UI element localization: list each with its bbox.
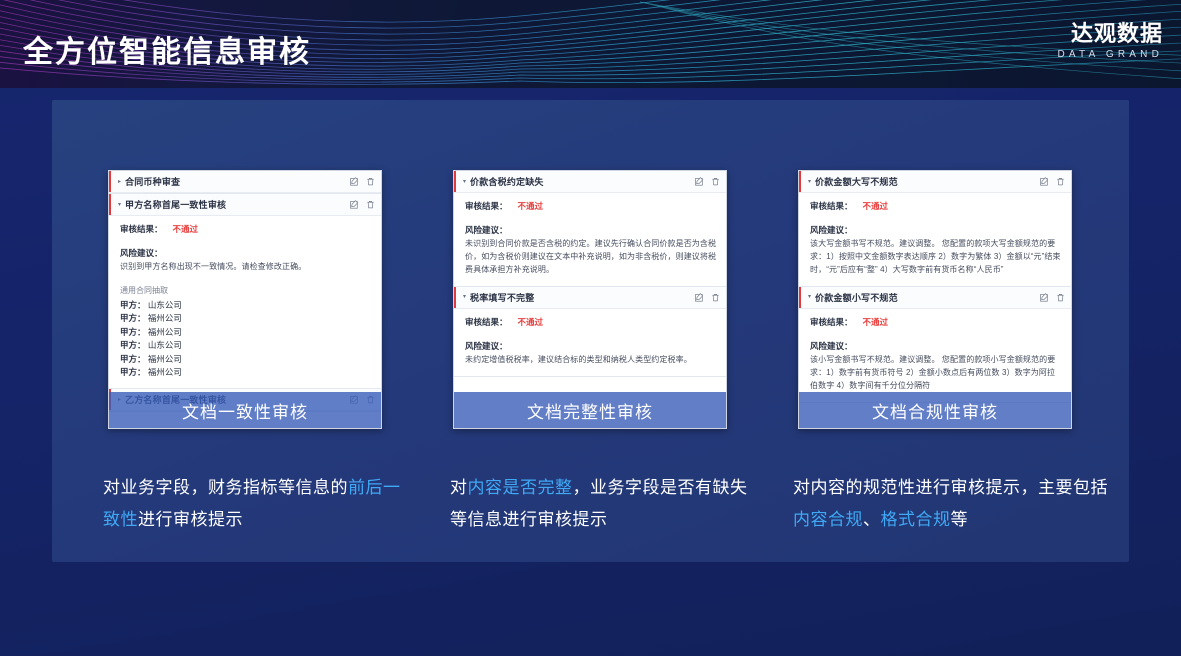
- desc-highlight: 内容合规: [793, 510, 863, 529]
- audit-section-header[interactable]: ▾ 甲方名称首尾一致性审核: [109, 194, 381, 216]
- desc-text: 对业务字段，财务指标等信息的: [103, 478, 348, 497]
- audit-section-title: 甲方名称首尾一致性审核: [125, 198, 226, 211]
- audit-section-header[interactable]: ▾ 价款金额小写不规范: [799, 287, 1071, 309]
- desc-highlight: 格式合规: [881, 510, 951, 529]
- field-key: 甲方：: [120, 327, 146, 337]
- desc-separator: 、: [863, 510, 881, 529]
- chevron-down-icon[interactable]: ▾: [463, 294, 466, 300]
- status-badge: 不通过: [863, 201, 889, 211]
- edit-icon[interactable]: [350, 177, 359, 186]
- risk-advice-text: 识别到甲方名称出现不一致情况。请检查修改正确。: [120, 261, 372, 274]
- row-actions: [1040, 177, 1065, 186]
- risk-advice-text: 该大写金额书写不规范。建议调整。 您配置的款项大写金额规范的要求：1）按照中文金…: [810, 238, 1062, 277]
- audit-section-header[interactable]: ▾ 价款含税约定缺失: [454, 171, 726, 193]
- extraction-row: 甲方： 福州公司: [120, 353, 372, 366]
- audit-section[interactable]: ▾ 甲方名称首尾一致性审核 审核结果：不通过 风险建议： 识别到甲方名称出现不一…: [109, 194, 381, 389]
- chevron-down-icon[interactable]: ▾: [808, 294, 811, 300]
- audit-section-header[interactable]: ▾ 价款金额大写不规范: [799, 171, 1071, 193]
- desc-text: 对内容的规范性进行审核提示，主要包括: [793, 478, 1108, 497]
- desc-text: 对: [450, 478, 468, 497]
- audit-section-body: 审核结果：不通过 风险建议： 该小写金额书写不规范。建议调整。 您配置的款项小写…: [799, 309, 1071, 402]
- risk-advice-text: 未识别到合同价款是否含税的约定。建议先行确认合同价款是否为含税价，如为含税价则建…: [465, 238, 717, 277]
- audit-section-body: 审核结果：不通过 风险建议： 未约定增值税税率，建议结合标的类型和纳税人类型约定…: [454, 309, 726, 376]
- row-actions: [1040, 293, 1065, 302]
- extraction-row: 甲方： 福州公司: [120, 326, 372, 339]
- card-caption: 文档完整性审核: [454, 392, 726, 428]
- status-badge: 不通过: [518, 201, 544, 211]
- audit-result-row: 审核结果：不通过: [465, 200, 717, 212]
- field-key: 甲方：: [120, 300, 146, 310]
- extraction-title: 通用合同抽取: [120, 285, 372, 296]
- audit-section[interactable]: ▾ 税率填写不完整 审核结果：不通过 风险建议： 未约定增值税税率，建议结合标的…: [454, 287, 726, 377]
- edit-icon[interactable]: [1040, 177, 1049, 186]
- risk-advice-label: 风险建议：: [465, 224, 717, 236]
- audit-section[interactable]: ▾ 价款金额小写不规范 审核结果：不通过 风险建议： 该小写金额书写不规范。建议…: [799, 287, 1071, 403]
- trash-icon[interactable]: [366, 177, 375, 186]
- screenshot-card-consistency: ▸ 合同币种审查 ▾ 甲方名称首尾一致性审核: [108, 170, 382, 429]
- card-caption-text: 文档完整性审核: [527, 398, 653, 423]
- screenshot-card-compliance: ▾ 价款金额大写不规范 审核结果：不通过 风险建议： 该大写金额书写不规范。建议…: [798, 170, 1072, 429]
- field-key: 甲方：: [120, 367, 146, 377]
- trash-icon[interactable]: [1056, 177, 1065, 186]
- slide-root: 全方位智能信息审核 达观数据 DATA GRAND ▸ 合同币种审查: [0, 0, 1181, 656]
- status-badge: 不通过: [518, 317, 544, 327]
- page-title: 全方位智能信息审核: [23, 27, 311, 71]
- audit-section-body: 审核结果：不通过 风险建议： 该大写金额书写不规范。建议调整。 您配置的款项大写…: [799, 193, 1071, 286]
- field-value: 福州公司: [148, 354, 182, 364]
- chevron-down-icon[interactable]: ▾: [808, 179, 811, 185]
- edit-icon[interactable]: [695, 293, 704, 302]
- audit-result-label: 审核结果：: [465, 317, 508, 327]
- audit-result-row: 审核结果：不通过: [810, 200, 1062, 212]
- risk-advice-label: 风险建议：: [465, 340, 717, 352]
- edit-icon[interactable]: [350, 200, 359, 209]
- field-value: 山东公司: [148, 340, 182, 350]
- audit-section-header[interactable]: ▸ 合同币种审查: [109, 171, 381, 193]
- extraction-row: 甲方： 山东公司: [120, 339, 372, 352]
- audit-section-title: 合同币种审查: [125, 175, 180, 188]
- edit-icon[interactable]: [695, 177, 704, 186]
- row-actions: [350, 177, 375, 186]
- feature-column-consistency: ▸ 合同币种审查 ▾ 甲方名称首尾一致性审核: [108, 170, 382, 429]
- desc-text: 等: [951, 510, 969, 529]
- audit-result-row: 审核结果：不通过: [810, 316, 1062, 328]
- chevron-down-icon[interactable]: ▾: [463, 179, 466, 185]
- field-value: 山东公司: [148, 300, 182, 310]
- risk-advice-text: 该小写金额书写不规范。建议调整。 您配置的款项小写金额规范的要求：1）数字前有货…: [810, 354, 1062, 393]
- card-caption-text: 文档一致性审核: [182, 398, 308, 423]
- audit-result-label: 审核结果：: [465, 201, 508, 211]
- field-value: 福州公司: [148, 313, 182, 323]
- row-actions: [695, 177, 720, 186]
- extraction-row: 甲方： 福州公司: [120, 366, 372, 379]
- field-key: 甲方：: [120, 313, 146, 323]
- field-value: 福州公司: [148, 367, 182, 377]
- trash-icon[interactable]: [1056, 293, 1065, 302]
- logo-text-en: DATA GRAND: [1057, 49, 1163, 60]
- status-badge: 不通过: [173, 224, 199, 234]
- field-value: 福州公司: [148, 327, 182, 337]
- audit-result-label: 审核结果：: [120, 224, 163, 234]
- column-description-compliance: 对内容的规范性进行审核提示，主要包括内容合规、格式合规等: [793, 472, 1113, 536]
- field-key: 甲方：: [120, 354, 146, 364]
- status-badge: 不通过: [863, 317, 889, 327]
- chevron-down-icon[interactable]: ▾: [118, 202, 121, 208]
- audit-result-row: 审核结果：不通过: [120, 223, 372, 235]
- trash-icon[interactable]: [366, 200, 375, 209]
- row-actions: [695, 293, 720, 302]
- audit-section-title: 价款含税约定缺失: [470, 175, 544, 188]
- card-caption-text: 文档合规性审核: [872, 398, 998, 423]
- field-key: 甲方：: [120, 340, 146, 350]
- audit-result-row: 审核结果：不通过: [465, 316, 717, 328]
- brand-logo: 达观数据 DATA GRAND: [1057, 22, 1163, 60]
- audit-result-label: 审核结果：: [810, 201, 853, 211]
- feature-columns: ▸ 合同币种审查 ▾ 甲方名称首尾一致性审核: [0, 0, 1181, 656]
- audit-section[interactable]: ▸ 合同币种审查: [109, 171, 381, 194]
- desc-highlight: 内容是否完整: [468, 478, 573, 497]
- logo-text-cn: 达观数据: [1057, 22, 1163, 46]
- audit-section[interactable]: ▾ 价款金额大写不规范 审核结果：不通过 风险建议： 该大写金额书写不规范。建议…: [799, 171, 1071, 287]
- audit-section-title: 价款金额大写不规范: [815, 175, 898, 188]
- feature-column-completeness: ▾ 价款含税约定缺失 审核结果：不通过 风险建议： 未识别到合同价款是否含税的约…: [453, 170, 727, 429]
- audit-section-title: 税率填写不完整: [470, 291, 534, 304]
- risk-advice-text: 未约定增值税税率，建议结合标的类型和纳税人类型约定税率。: [465, 354, 717, 367]
- audit-section-header[interactable]: ▾ 税率填写不完整: [454, 287, 726, 309]
- column-description-consistency: 对业务字段，财务指标等信息的前后一致性进行审核提示: [103, 472, 403, 536]
- risk-advice-label: 风险建议：: [810, 224, 1062, 236]
- audit-section-body: 审核结果：不通过 风险建议： 识别到甲方名称出现不一致情况。请检查修改正确。 通…: [109, 216, 381, 388]
- feature-column-compliance: ▾ 价款金额大写不规范 审核结果：不通过 风险建议： 该大写金额书写不规范。建议…: [798, 170, 1072, 429]
- audit-section[interactable]: ▾ 价款含税约定缺失 审核结果：不通过 风险建议： 未识别到合同价款是否含税的约…: [454, 171, 726, 287]
- chevron-right-icon[interactable]: ▸: [118, 179, 121, 185]
- extraction-row: 甲方： 山东公司: [120, 299, 372, 312]
- audit-section-body: 审核结果：不通过 风险建议： 未识别到合同价款是否含税的约定。建议先行确认合同价…: [454, 193, 726, 286]
- edit-icon[interactable]: [1040, 293, 1049, 302]
- audit-result-label: 审核结果：: [810, 317, 853, 327]
- extraction-row: 甲方： 福州公司: [120, 312, 372, 325]
- desc-text: 进行审核提示: [138, 510, 243, 529]
- column-description-completeness: 对内容是否完整，业务字段是否有缺失等信息进行审核提示: [450, 472, 750, 536]
- row-actions: [350, 200, 375, 209]
- audit-section-title: 价款金额小写不规范: [815, 291, 898, 304]
- card-caption: 文档一致性审核: [109, 392, 381, 428]
- trash-icon[interactable]: [711, 293, 720, 302]
- card-caption: 文档合规性审核: [799, 392, 1071, 428]
- screenshot-card-completeness: ▾ 价款含税约定缺失 审核结果：不通过 风险建议： 未识别到合同价款是否含税的约…: [453, 170, 727, 429]
- risk-advice-label: 风险建议：: [120, 247, 372, 259]
- risk-advice-label: 风险建议：: [810, 340, 1062, 352]
- trash-icon[interactable]: [711, 177, 720, 186]
